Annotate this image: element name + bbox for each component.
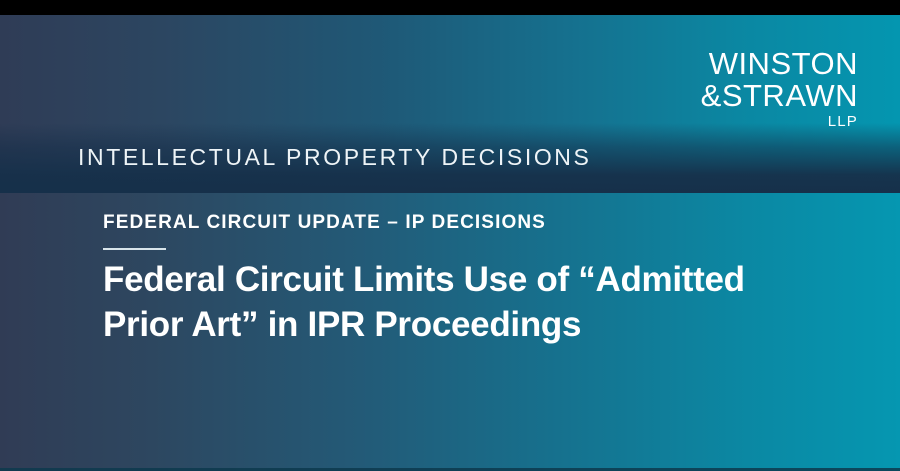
content-block: FEDERAL CIRCUIT UPDATE – IP DECISIONS Fe… xyxy=(103,212,863,348)
logo-line-winston: WINSTON xyxy=(701,48,858,80)
display-word-circuit: CIRCUIT xyxy=(50,67,499,148)
divider-rule xyxy=(103,248,166,250)
banner-subtitle: INTELLECTUAL PROPERTY DECISIONS xyxy=(78,144,591,171)
logo-line-strawn: &STRAWN xyxy=(701,80,858,112)
eyebrow-label: FEDERAL CIRCUIT UPDATE – IP DECISIONS xyxy=(103,212,863,234)
page-title: Federal Circuit Limits Use of “Admitted … xyxy=(103,258,823,348)
slide-canvas: FEDERAL CIRCUIT WINSTON &STRAWN LLP INTE… xyxy=(0,0,900,471)
top-letterbox-bar xyxy=(0,0,900,15)
winston-strawn-logo: WINSTON &STRAWN LLP xyxy=(701,48,858,132)
logo-suffix-llp: LLP xyxy=(701,111,858,132)
